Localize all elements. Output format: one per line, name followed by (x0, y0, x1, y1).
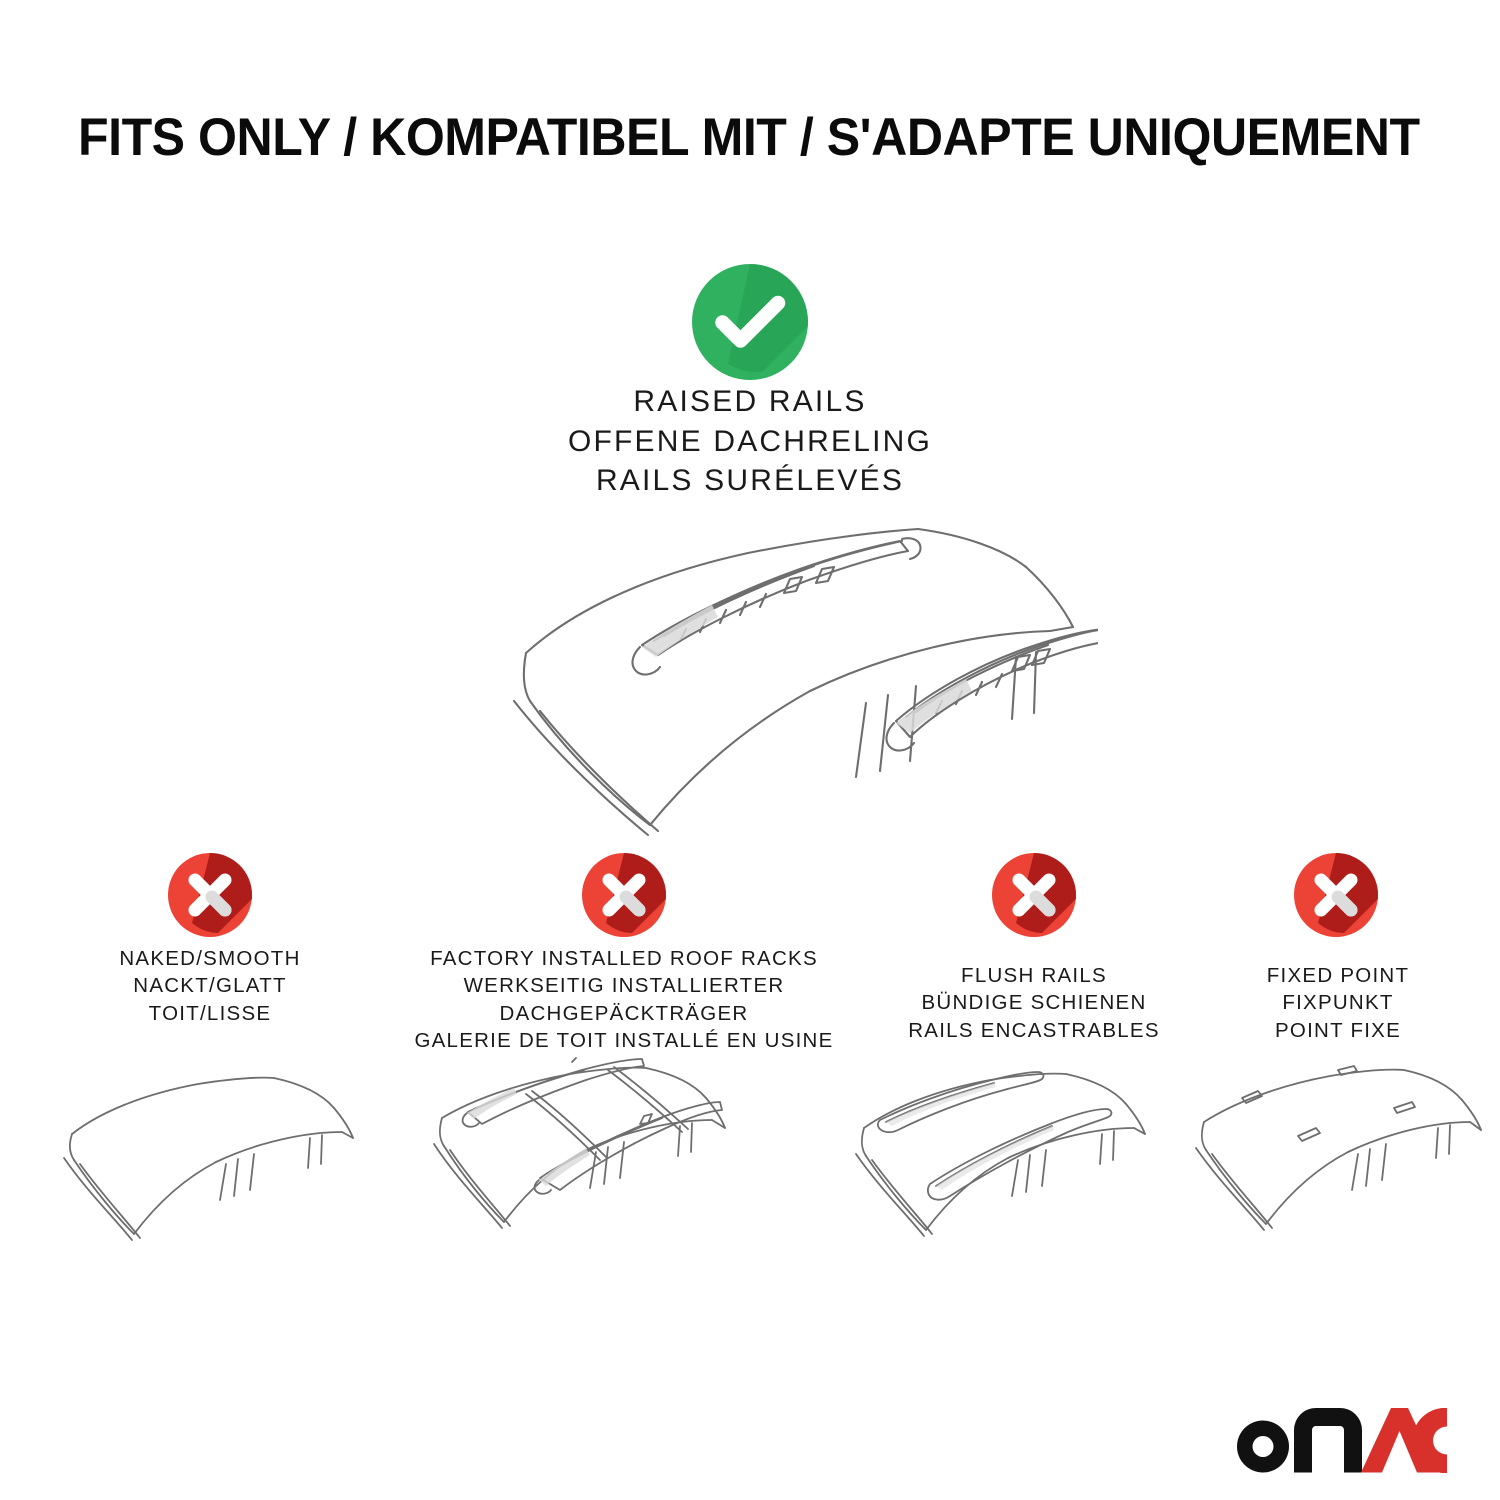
incompatible-label-naked-smooth: NAKED/SMOOTH NACKT/GLATT TOIT/LISSE (30, 945, 390, 1027)
incompatible-label-flush-rails: FLUSH RAILS BÜNDIGE SCHIENEN RAILS ENCAS… (858, 962, 1210, 1044)
car-roof-flush-rails-illustration (840, 1062, 1190, 1272)
incompatible-label-fixed-point: FIXED POINT FIXPUNKT POINT FIXE (1200, 962, 1476, 1044)
car-roof-fixed-point-illustration (1186, 1062, 1496, 1272)
car-roof-raised-rails-illustration (418, 505, 1098, 845)
x-circle-icon (1294, 853, 1378, 937)
x-circle-icon (168, 853, 252, 937)
car-roof-factory-roof-racks-illustration (420, 1056, 790, 1276)
check-circle-icon (692, 264, 808, 380)
x-circle-icon (992, 853, 1076, 937)
page-title: FITS ONLY / KOMPATIBEL MIT / S'ADAPTE UN… (78, 108, 1354, 168)
fitment-infographic: FITS ONLY / KOMPATIBEL MIT / S'ADAPTE UN… (0, 0, 1500, 1500)
x-circle-icon (582, 853, 666, 937)
car-roof-naked-smooth-illustration (48, 1062, 388, 1272)
compatible-label: RAISED RAILS OFFENE DACHRELING RAILS SUR… (450, 382, 1050, 501)
incompatible-label-factory-roof-racks: FACTORY INSTALLED ROOF RACKS WERKSEITIG … (398, 945, 850, 1054)
omac-logo (1232, 1408, 1447, 1473)
